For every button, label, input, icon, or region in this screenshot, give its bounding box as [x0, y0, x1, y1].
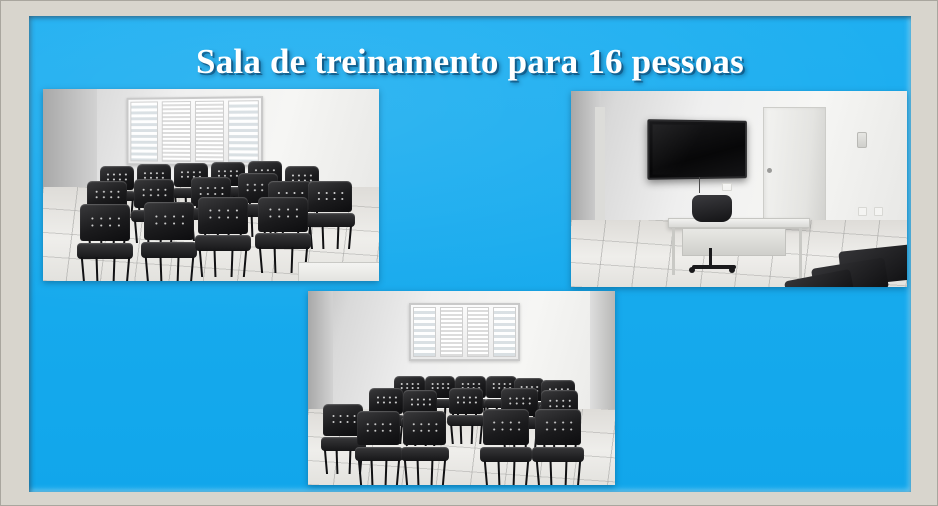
window-pane [162, 101, 191, 162]
window-louvered [409, 303, 520, 361]
desk-panel [682, 228, 786, 255]
tv-cable [699, 177, 701, 193]
chair [357, 411, 400, 485]
office-chair-back [692, 195, 732, 222]
office-chair-post [709, 248, 712, 268]
window-pane [467, 307, 490, 357]
photo-room-front[interactable] [43, 89, 379, 281]
desk-leg [672, 228, 675, 275]
white-table [298, 262, 379, 281]
door [763, 107, 827, 225]
window-louvered [126, 96, 262, 167]
chair [308, 181, 352, 248]
door-knob [767, 168, 772, 173]
desk-leg [799, 228, 802, 279]
slide-canvas: Sala de treinamento para 16 pessoas [29, 16, 911, 492]
chair [483, 409, 529, 485]
window-pane [440, 307, 463, 357]
window-pane [130, 101, 158, 161]
window-pane [413, 307, 436, 357]
chair [403, 411, 446, 485]
wall-outlet [858, 207, 867, 216]
chair [144, 202, 194, 281]
slide-frame: Sala de treinamento para 16 pessoas [0, 0, 938, 506]
photo-room-tv[interactable] [571, 91, 907, 287]
chair [80, 204, 130, 281]
window-pane [194, 100, 223, 162]
slide-title: Sala de treinamento para 16 pessoas [29, 42, 911, 82]
wall-outlet [874, 207, 883, 216]
chair [198, 197, 248, 278]
wall-intercom [857, 132, 867, 148]
television [648, 120, 747, 180]
wall-outlet [722, 183, 732, 191]
chair [449, 388, 483, 444]
chair [535, 409, 581, 485]
window-pane [228, 100, 258, 163]
photo-room-rear[interactable] [308, 291, 615, 485]
desk-top [668, 218, 809, 228]
window-pane [493, 307, 516, 357]
